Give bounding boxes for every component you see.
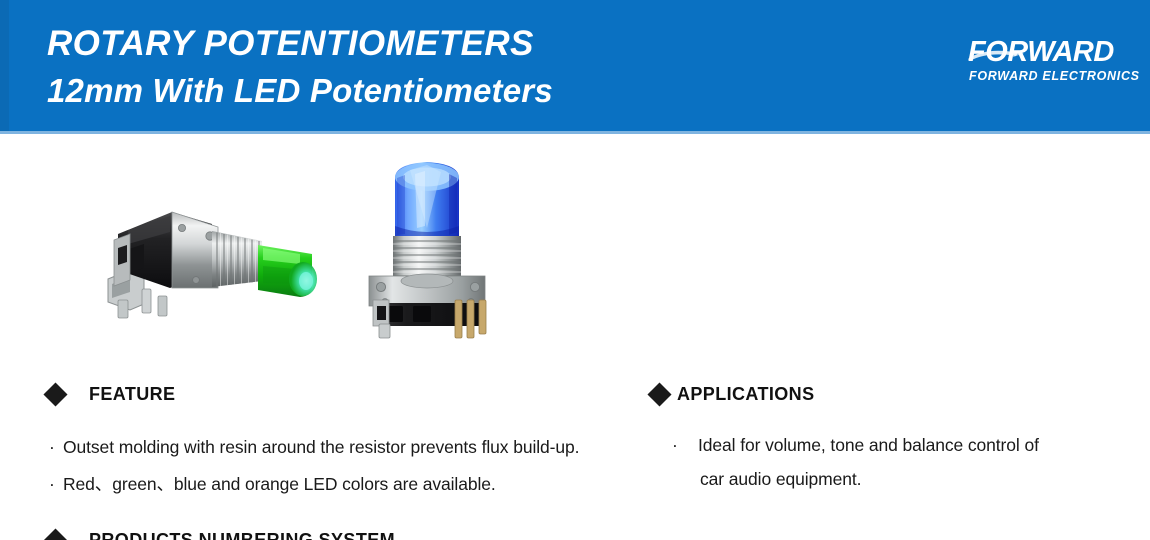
applications-bullet-2-text: car audio equipment. <box>700 469 861 489</box>
led-shaft-blue <box>395 162 459 240</box>
numbering-section-heading: PRODUCTS NUMBERING SYSTEM <box>47 530 395 540</box>
feature-bullet-2-text: Red、green、blue and orange LED colors are… <box>63 474 496 494</box>
feature-section-heading: FEATURE <box>47 384 175 405</box>
product-photo-green-led-potentiometer <box>100 184 330 329</box>
forward-electronics-logo: FORWARD FORWARD ELECTRONICS <box>966 36 1118 86</box>
datasheet-page: ROTARY POTENTIOMETERS 12mm With LED Pote… <box>0 0 1150 540</box>
page-subtitle: 12mm With LED Potentiometers <box>47 72 553 110</box>
diamond-bullet-icon <box>647 382 671 406</box>
led-shaft-green <box>258 245 317 297</box>
bullet-dot-icon: · <box>49 474 63 495</box>
numbering-heading-label: PRODUCTS NUMBERING SYSTEM <box>89 530 395 540</box>
product-image-area <box>0 134 1150 372</box>
diamond-bullet-icon <box>43 528 67 540</box>
applications-bullet-2: car audio equipment. <box>700 469 861 490</box>
page-title: ROTARY POTENTIOMETERS <box>47 24 534 64</box>
header-banner: ROTARY POTENTIOMETERS 12mm With LED Pote… <box>0 0 1150 131</box>
bullet-dot-icon: · <box>49 437 63 458</box>
applications-bullet-1: ·Ideal for volume, tone and balance cont… <box>672 435 1039 456</box>
body-housing-blue <box>373 300 481 326</box>
feature-bullet-1: ·Outset molding with resin around the re… <box>49 437 579 458</box>
applications-bullet-1-text: Ideal for volume, tone and balance contr… <box>698 435 1039 455</box>
bullet-dot-icon: · <box>672 435 698 456</box>
feature-bullet-1-text: Outset molding with resin around the res… <box>63 437 579 457</box>
applications-section-heading: APPLICATIONS <box>651 384 814 405</box>
threaded-bushing-green <box>212 231 262 287</box>
product-photo-blue-led-potentiometer <box>355 148 505 340</box>
applications-heading-label: APPLICATIONS <box>677 384 814 405</box>
logo-tagline: FORWARD ELECTRONICS <box>969 69 1140 83</box>
feature-bullet-2: ·Red、green、blue and orange LED colors ar… <box>49 471 496 496</box>
header-left-edge-strip <box>0 0 9 131</box>
mounting-plate-green <box>172 212 218 288</box>
logo-wordmark: FORWARD <box>968 36 1114 69</box>
diamond-bullet-icon <box>43 382 67 406</box>
feature-heading-label: FEATURE <box>89 384 175 405</box>
